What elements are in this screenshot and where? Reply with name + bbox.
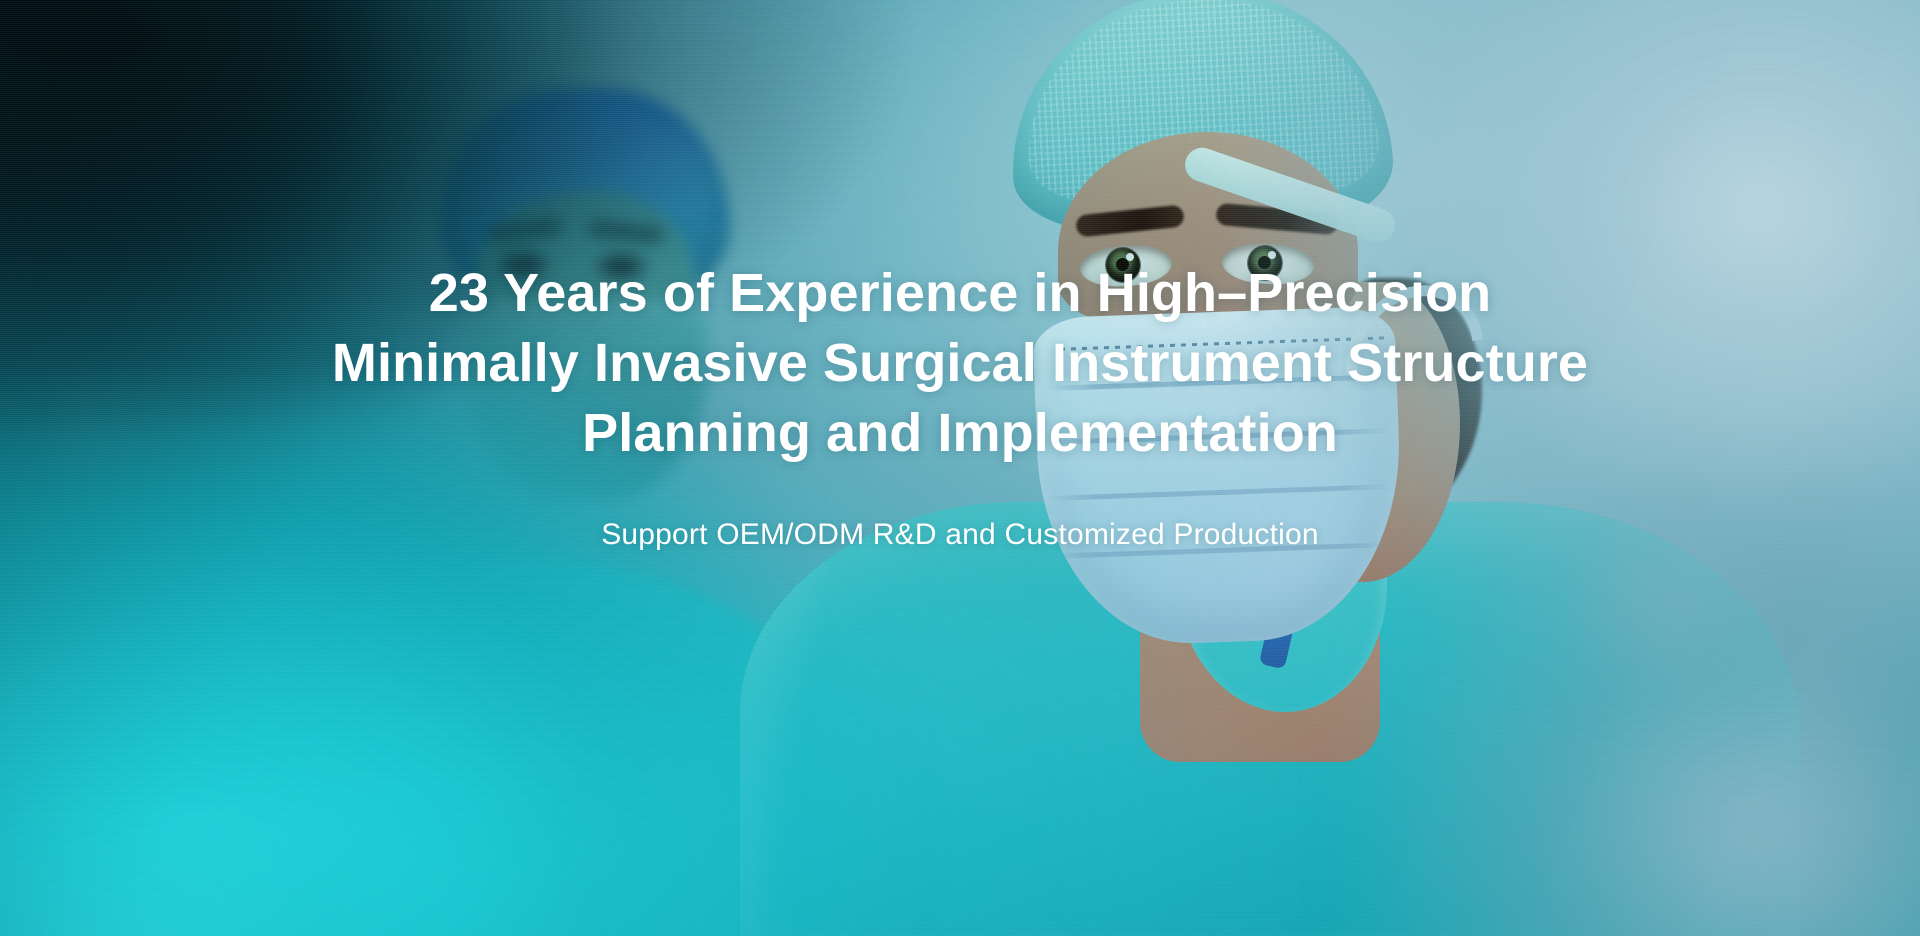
- headline-line-1: 23 Years of Experience in High–Precision: [250, 258, 1670, 328]
- headline-line-2: Minimally Invasive Surgical Instrument S…: [250, 328, 1670, 398]
- subheadline: Support OEM/ODM R&D and Customized Produ…: [601, 514, 1319, 556]
- headline-line-3: Planning and Implementation: [250, 398, 1670, 468]
- hero-banner: 23 Years of Experience in High–Precision…: [0, 0, 1920, 936]
- page-title: 23 Years of Experience in High–Precision…: [250, 258, 1670, 468]
- banner-content: 23 Years of Experience in High–Precision…: [0, 0, 1920, 936]
